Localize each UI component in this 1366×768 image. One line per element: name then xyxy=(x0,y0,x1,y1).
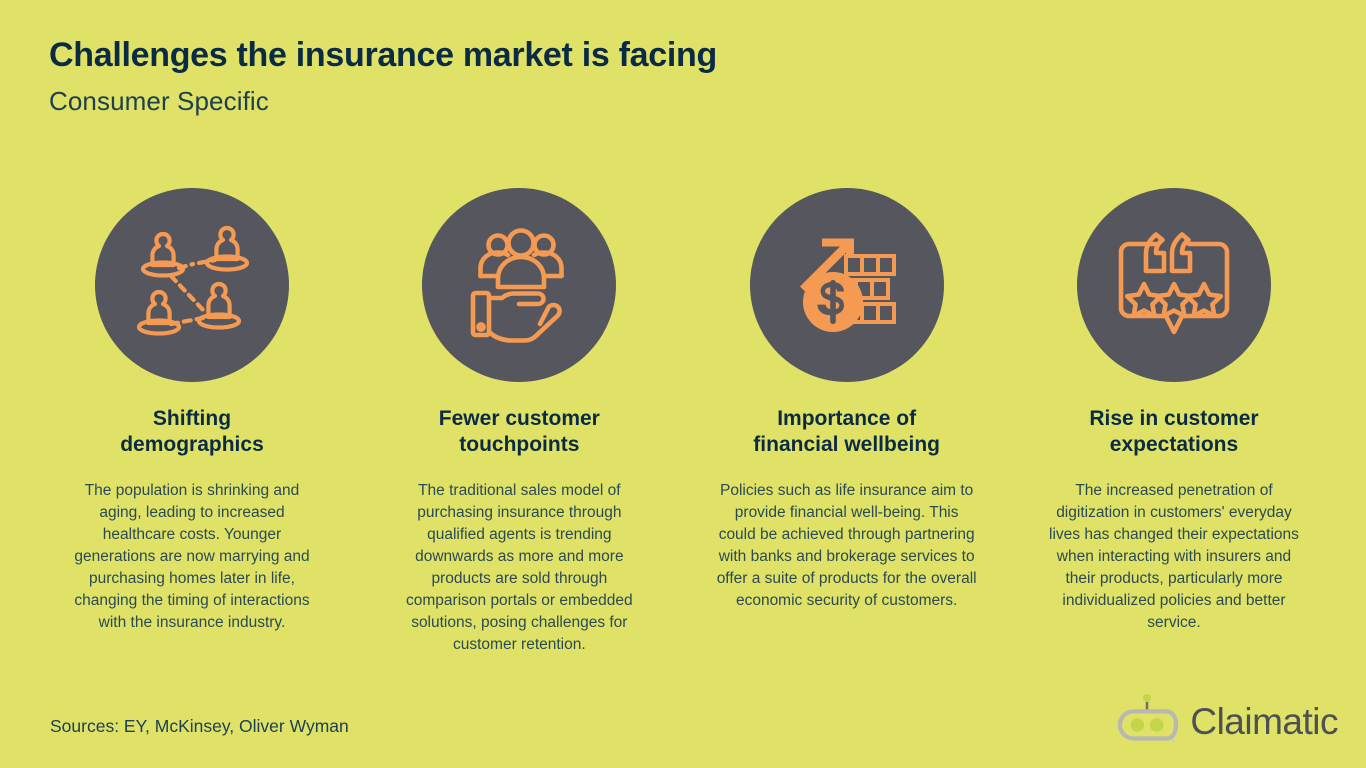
quote-stars-review-icon xyxy=(1077,188,1271,382)
card-rise-in-customer-expectations: Rise in customer expectations The increa… xyxy=(1024,188,1324,656)
card-body: The traditional sales model of purchasin… xyxy=(395,480,643,656)
slide-root: Challenges the insurance market is facin… xyxy=(0,0,1366,768)
card-title: Shifting demographics xyxy=(120,406,264,459)
sources-text: Sources: EY, McKinsey, Oliver Wyman xyxy=(50,716,349,737)
card-importance-financial-wellbeing: Importance of financial wellbeing Polici… xyxy=(697,188,997,656)
card-body: Policies such as life insurance aim to p… xyxy=(716,480,978,612)
card-body: The population is shrinking and aging, l… xyxy=(68,480,316,634)
page-title: Challenges the insurance market is facin… xyxy=(49,36,717,75)
card-body: The increased penetration of digitizatio… xyxy=(1043,480,1305,634)
claimatic-logo-text: Claimatic xyxy=(1190,703,1338,743)
claimatic-robot-icon xyxy=(1112,694,1182,752)
hand-holding-people-icon xyxy=(422,188,616,382)
card-title: Rise in customer expectations xyxy=(1089,406,1258,459)
card-grid: Shifting demographics The population is … xyxy=(42,188,1324,656)
card-fewer-customer-touchpoints: Fewer customer touchpoints The tradition… xyxy=(369,188,669,656)
page-subtitle: Consumer Specific xyxy=(49,86,269,117)
card-shifting-demographics: Shifting demographics The population is … xyxy=(42,188,342,656)
people-network-icon xyxy=(95,188,289,382)
card-title: Importance of financial wellbeing xyxy=(753,406,940,459)
money-growth-dollar-icon xyxy=(750,188,944,382)
card-title: Fewer customer touchpoints xyxy=(439,406,600,459)
claimatic-logo: Claimatic xyxy=(1112,694,1338,752)
